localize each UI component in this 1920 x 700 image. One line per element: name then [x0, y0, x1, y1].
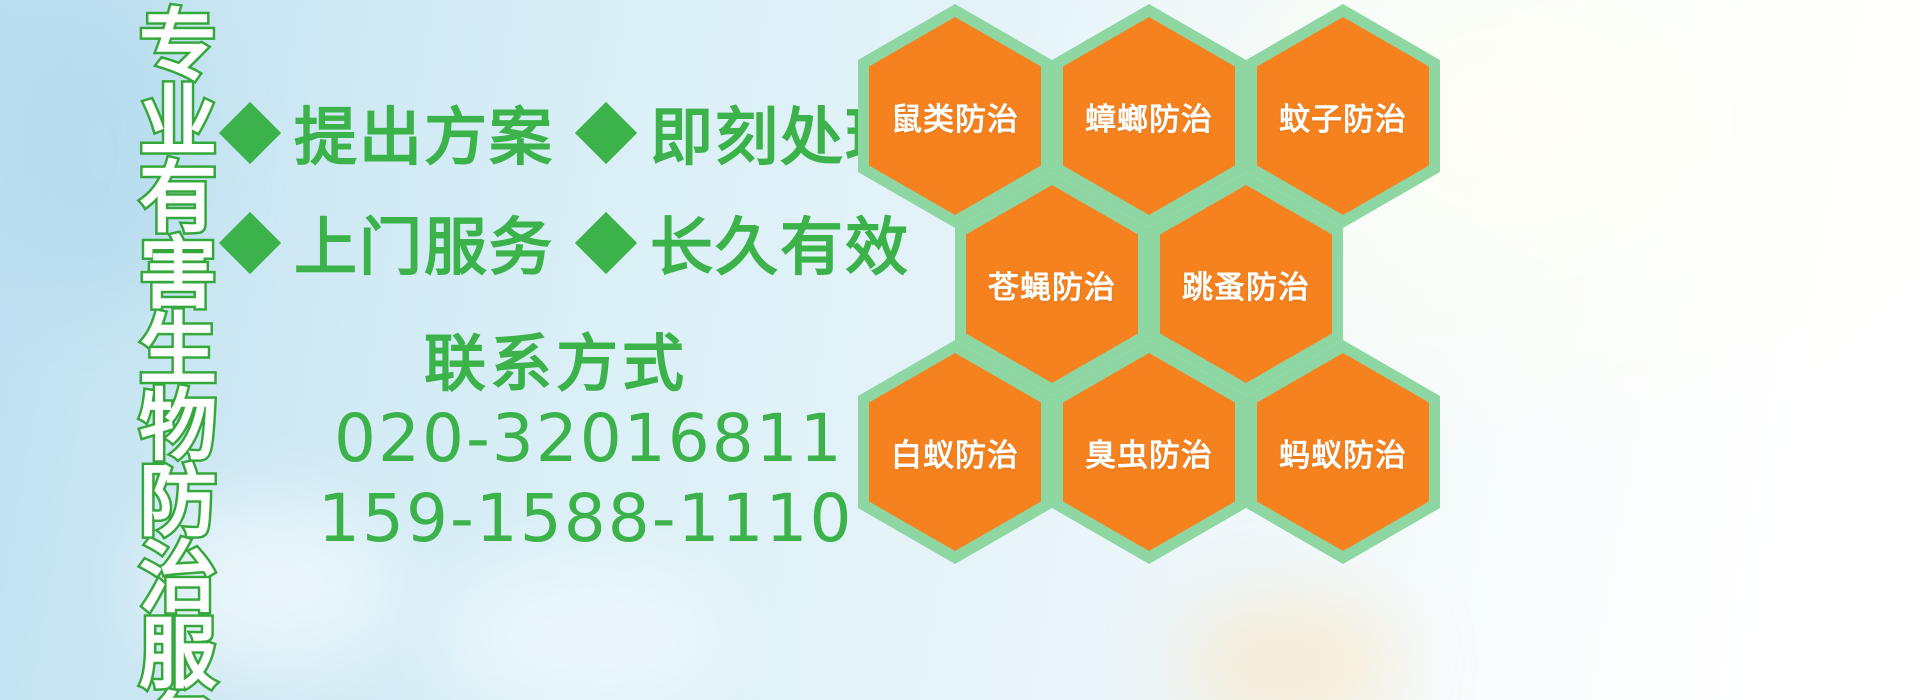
service-label: 蚊子防治 — [1279, 94, 1407, 139]
contact-heading: 联系方式 — [424, 313, 688, 403]
feature-label: 提出方案 — [294, 87, 554, 178]
service-hex-termite[interactable]: 白蚁防治 — [858, 340, 1052, 564]
service-label: 苍蝇防治 — [988, 262, 1116, 307]
service-hex-bedbug[interactable]: 臭虫防治 — [1052, 340, 1246, 564]
feature-item-onsite-service: 上门服务 — [228, 197, 554, 288]
diamond-icon — [575, 101, 637, 163]
phone-mobile[interactable]: 159-1588-1110 — [318, 480, 854, 557]
service-label: 蚂蚁防治 — [1279, 430, 1407, 475]
service-label: 白蚁防治 — [891, 430, 1019, 475]
vertical-company-slogan: 专业有害生物防治服务 — [104, 4, 208, 700]
diamond-icon — [219, 211, 281, 273]
diamond-icon — [219, 101, 281, 163]
phone-landline[interactable]: 020-32016811 — [334, 400, 844, 477]
service-label: 鼠类防治 — [891, 94, 1019, 139]
feature-label: 上门服务 — [294, 197, 554, 288]
feature-row-bottom: 上门服务 长久有效 — [228, 197, 910, 288]
service-label: 臭虫防治 — [1085, 430, 1213, 475]
service-honeycomb: 鼠类防治 蟑螂防治 蚊子防治 苍蝇防治 跳蚤防治 白蚁防治 — [856, 0, 1476, 700]
service-label: 蟑螂防治 — [1085, 94, 1213, 139]
service-label: 跳蚤防治 — [1182, 262, 1310, 307]
service-hex-ant[interactable]: 蚂蚁防治 — [1246, 340, 1440, 564]
background-blob — [430, 560, 730, 700]
diamond-icon — [575, 211, 637, 273]
pest-control-banner: 专业有害生物防治服务 提出方案 即刻处理 上门服务 长久有效 联系方式 020-… — [0, 0, 1920, 700]
feature-item-propose-plan: 提出方案 — [228, 87, 554, 178]
feature-row-top: 提出方案 即刻处理 — [228, 87, 910, 178]
